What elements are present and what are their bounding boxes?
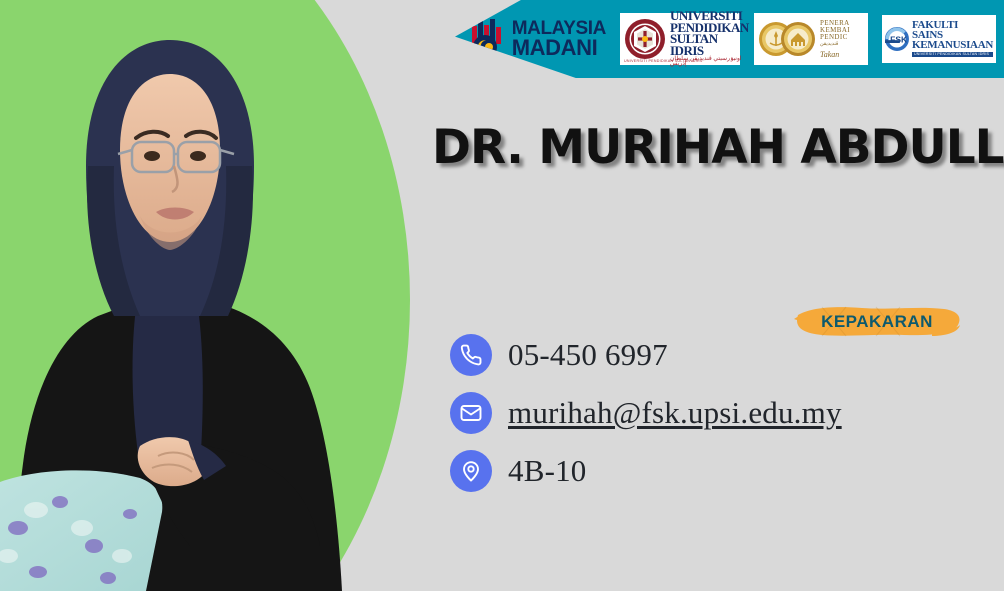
fsk-mark-text: FSK (890, 34, 908, 44)
gold-medallions-icon (758, 16, 816, 62)
upsi-footer-text: UNIVERSITI PENDIDIKAN SULTAN IDRIS (624, 59, 703, 63)
contact-phone-value: 05-450 6997 (508, 337, 668, 373)
contact-row-email[interactable]: murihah@fsk.upsi.edu.my (450, 392, 842, 434)
penera-line3: PENDIC (820, 34, 850, 41)
contact-location-value: 4B-10 (508, 453, 587, 489)
profile-card: MALAYSIA MADANI UNIVERSITI (0, 0, 1004, 591)
phone-icon (450, 334, 492, 376)
header-banner: MALAYSIA MADANI UNIVERSITI (455, 0, 1004, 78)
location-pin-icon (450, 450, 492, 492)
madani-mark-icon (466, 18, 506, 60)
contact-row-phone[interactable]: 05-450 6997 (450, 334, 842, 376)
upsi-line3: SULTAN IDRIS (670, 33, 749, 56)
portrait-photo (0, 16, 390, 591)
madani-wordmark: MALAYSIA MADANI (512, 20, 606, 58)
upsi-crest-icon (624, 18, 666, 60)
penera-jawi-text: ڤنديديقن (820, 42, 850, 47)
contact-list: 05-450 6997 murihah@fsk.upsi.edu.my 4B-1… (450, 334, 842, 492)
fsk-logo: FSK FAKULTI SAINS KEMANUSIAAN UNIVERSITI… (882, 15, 996, 63)
upsi-logo: UNIVERSITI PENDIDIKAN SULTAN IDRIS اونيۏ… (620, 13, 740, 65)
fsk-swoosh-icon: FSK (885, 19, 909, 59)
penera-wordmark: PENERA KEMBAI PENDIC ڤنديديقن Takan (820, 20, 850, 59)
envelope-icon (450, 392, 492, 434)
fsk-wordmark: FAKULTI SAINS KEMANUSIAAN UNIVERSITI PEN… (912, 21, 993, 57)
logo-row: MALAYSIA MADANI UNIVERSITI (455, 0, 1004, 78)
contact-row-location[interactable]: 4B-10 (450, 450, 842, 492)
fsk-footer-text: UNIVERSITI PENDIDIKAN SULTAN IDRIS (912, 52, 993, 57)
penera-kementerian-pendidikan-logo: PENERA KEMBAI PENDIC ڤنديديقن Takan (754, 13, 868, 65)
penera-signature: Takan (820, 51, 850, 59)
malaysia-madani-logo: MALAYSIA MADANI (466, 16, 606, 62)
page-title: DR. MURIHAH ABDULLAH (432, 120, 992, 175)
contact-email-value[interactable]: murihah@fsk.upsi.edu.my (508, 395, 842, 431)
fsk-line3: KEMANUSIAAN (912, 41, 993, 51)
madani-line2: MADANI (512, 38, 606, 58)
